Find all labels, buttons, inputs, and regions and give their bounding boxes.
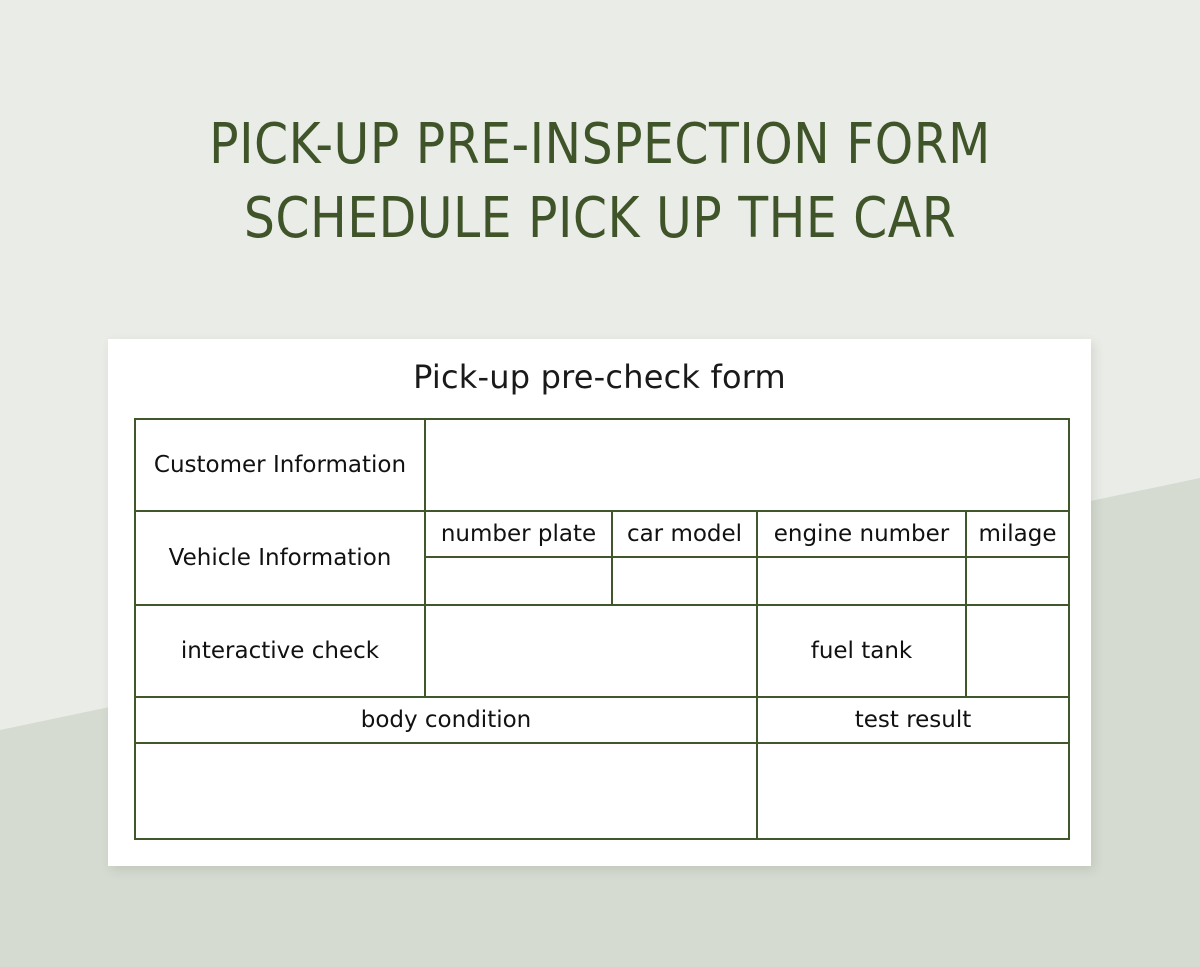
table-row-customer-information: Customer Information	[135, 419, 1069, 511]
input-milage[interactable]	[966, 557, 1069, 605]
header-number-plate: number plate	[425, 511, 612, 557]
input-interactive-check[interactable]	[425, 605, 757, 697]
label-body-condition: body condition	[135, 697, 757, 743]
table-row-condition-headers: body condition test result	[135, 697, 1069, 743]
page-title: PICK-UP PRE-INSPECTION FORM SCHEDULE PIC…	[0, 108, 1200, 256]
header-car-model: car model	[612, 511, 757, 557]
input-engine-number[interactable]	[757, 557, 966, 605]
header-milage: milage	[966, 511, 1069, 557]
form-card: Pick-up pre-check form Customer Informat…	[108, 339, 1091, 866]
input-car-model[interactable]	[612, 557, 757, 605]
input-number-plate[interactable]	[425, 557, 612, 605]
label-fuel-tank: fuel tank	[757, 605, 966, 697]
form-title: Pick-up pre-check form	[108, 355, 1091, 399]
input-test-result[interactable]	[757, 743, 1069, 839]
label-vehicle-information: Vehicle Information	[135, 511, 425, 605]
input-fuel-tank[interactable]	[966, 605, 1069, 697]
label-test-result: test result	[757, 697, 1069, 743]
page-title-line-2: SCHEDULE PICK UP THE CAR	[18, 182, 1182, 256]
table-row-interactive-check: interactive check fuel tank	[135, 605, 1069, 697]
page-title-line-1: PICK-UP PRE-INSPECTION FORM	[18, 108, 1182, 182]
precheck-table: Customer Information Vehicle Information…	[134, 418, 1070, 840]
input-customer-information[interactable]	[425, 419, 1069, 511]
label-customer-information: Customer Information	[135, 419, 425, 511]
input-body-condition[interactable]	[135, 743, 757, 839]
table-row-vehicle-information-headers: Vehicle Information number plate car mod…	[135, 511, 1069, 557]
label-interactive-check: interactive check	[135, 605, 425, 697]
header-engine-number: engine number	[757, 511, 966, 557]
table-row-condition-values	[135, 743, 1069, 839]
